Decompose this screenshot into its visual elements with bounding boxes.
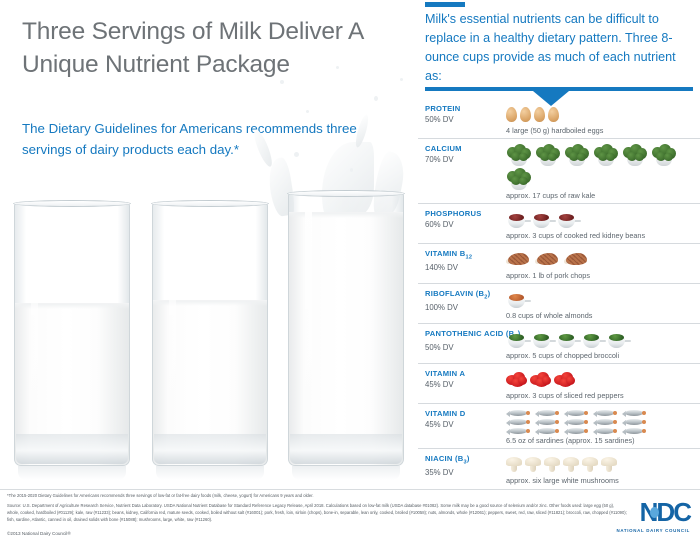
red-pepper-icon	[506, 372, 527, 388]
sardine-icon	[506, 409, 532, 417]
nutrient-icon-group	[506, 408, 700, 435]
kale-cup-icon	[535, 144, 561, 166]
broccoli-cup-icon	[556, 331, 578, 349]
ndc-logo: NDC NATIONAL DAIRY COUNCIL	[604, 497, 690, 537]
nutrient-name: PANTOTHENIC ACID (B5)	[425, 329, 503, 341]
infographic-page: Three Servings of Milk Deliver A Unique …	[0, 0, 700, 544]
nutrient-name: CALCIUM	[425, 144, 503, 153]
nutrient-name: VITAMIN A	[425, 369, 503, 378]
nutrient-name: NIACIN (B3)	[425, 454, 503, 466]
kidney-bean-cup-icon	[531, 211, 553, 229]
sardine-icon	[593, 427, 619, 435]
footnote-source: Source: U.S. Department of Agriculture R…	[7, 502, 627, 524]
egg-icon	[506, 107, 517, 122]
sardine-icon	[535, 427, 561, 435]
nutrient-label-group: VITAMIN A45% DV	[425, 369, 503, 389]
nutrient-list: PROTEIN50% DV4 large (50 g) hardboiled e…	[418, 99, 700, 488]
pork-chop-icon	[535, 251, 561, 268]
nutrient-row: CALCIUM70% DVapprox. 17 cups of raw kale	[418, 138, 700, 203]
nutrient-icon-group	[506, 208, 700, 230]
nutrient-daily-value: 70% DV	[425, 155, 503, 164]
nutrient-row: PANTOTHENIC ACID (B5)50% DVapprox. 5 cup…	[418, 323, 700, 363]
panel-intro-text: Milk's essential nutrients can be diffic…	[425, 10, 693, 87]
panel-top-rule	[425, 2, 465, 7]
nutrient-name: RIBOFLAVIN (B2)	[425, 289, 503, 301]
mushroom-icon	[582, 457, 598, 472]
nutrient-daily-value: 140% DV	[425, 263, 503, 272]
sardine-icon	[593, 409, 619, 417]
sardine-icon	[506, 427, 532, 435]
sardine-icon	[564, 409, 590, 417]
milk-glass-2	[152, 202, 268, 466]
nutrient-label-group: PHOSPHORUS60% DV	[425, 209, 503, 229]
mushroom-icon	[563, 457, 579, 472]
nutrient-daily-value: 60% DV	[425, 220, 503, 229]
nutrient-label-group: VITAMIN B12140% DV	[425, 249, 503, 273]
nutrient-row: NIACIN (B3)35% DVapprox. six large white…	[418, 448, 700, 488]
kale-cup-icon	[593, 144, 619, 166]
almond-cup-icon	[506, 291, 528, 309]
sardine-icon	[506, 418, 532, 426]
copyright-notice: ©2013 National Dairy Council®	[7, 531, 71, 536]
nutrient-caption: 6.5 oz of sardines (approx. 15 sardines)	[506, 435, 700, 445]
mushroom-icon	[506, 457, 522, 472]
nutrient-row: PROTEIN50% DV4 large (50 g) hardboiled e…	[418, 99, 700, 138]
broccoli-cup-icon	[531, 331, 553, 349]
nutrient-daily-value: 50% DV	[425, 343, 503, 352]
ndc-logo-oval-icon	[650, 507, 659, 518]
nutrient-label-group: CALCIUM70% DV	[425, 144, 503, 164]
ndc-logo-mark: NDC	[604, 497, 690, 527]
nutrient-label-group: RIBOFLAVIN (B2)100% DV	[425, 289, 503, 313]
nutrient-name: VITAMIN B12	[425, 249, 503, 261]
nutrient-panel: Milk's essential nutrients can be diffic…	[418, 0, 700, 489]
nutrient-row: VITAMIN D45% DV6.5 oz of sardines (appro…	[418, 403, 700, 448]
sardine-icon	[593, 418, 619, 426]
ndc-logo-name: NATIONAL DAIRY COUNCIL	[604, 528, 690, 533]
nutrient-row: RIBOFLAVIN (B2)100% DV0.8 cups of whole …	[418, 283, 700, 323]
kale-cup-icon	[622, 144, 648, 166]
milk-glass-1	[14, 202, 130, 466]
nutrient-icon-group	[506, 288, 700, 310]
sardine-icon	[622, 427, 648, 435]
nutrient-name: PHOSPHORUS	[425, 209, 503, 218]
broccoli-cup-icon	[506, 331, 528, 349]
sardine-icon	[564, 418, 590, 426]
sardine-icon	[535, 409, 561, 417]
nutrient-row: VITAMIN B12140% DVapprox. 1 lb of pork c…	[418, 243, 700, 283]
sardine-icon	[622, 418, 648, 426]
footer: *The 2015-2020 Dietary Guidelines for Am…	[0, 490, 700, 544]
mushroom-icon	[525, 457, 541, 472]
mushroom-icon	[544, 457, 560, 472]
sardine-icon	[535, 418, 561, 426]
sardine-icon	[564, 427, 590, 435]
nutrient-row: PHOSPHORUS60% DVapprox. 3 cups of cooked…	[418, 203, 700, 243]
nutrient-name-subscript: 12	[466, 255, 473, 261]
milk-glasses-illustration	[0, 188, 418, 480]
kidney-bean-cup-icon	[506, 211, 528, 229]
nutrient-caption: approx. 3 cups of cooked red kidney bean…	[506, 230, 700, 240]
nutrient-icon-group	[506, 368, 700, 390]
nutrient-caption: approx. 1 lb of pork chops	[506, 270, 700, 280]
nutrient-caption: 4 large (50 g) hardboiled eggs	[506, 125, 700, 135]
nutrient-caption: approx. 5 cups of chopped broccoli	[506, 350, 700, 360]
nutrient-name-subscript: 2	[484, 295, 487, 301]
red-pepper-icon	[530, 372, 551, 388]
nutrient-label-group: PANTOTHENIC ACID (B5)50% DV	[425, 329, 503, 353]
nutrient-caption: approx. 17 cups of raw kale	[506, 190, 700, 200]
red-pepper-icon	[554, 372, 575, 388]
nutrient-row: VITAMIN A45% DVapprox. 3 cups of sliced …	[418, 363, 700, 403]
nutrient-icon-group	[506, 143, 700, 190]
nutrient-icon-group	[506, 453, 700, 475]
sardine-icon	[622, 409, 648, 417]
footnote-disclaimer: *The 2015-2020 Dietary Guidelines for Am…	[7, 493, 627, 499]
mushroom-icon	[601, 457, 617, 472]
nutrient-name-subscript: 3	[464, 460, 467, 466]
egg-icon	[534, 107, 545, 122]
nutrient-label-group: VITAMIN D45% DV	[425, 409, 503, 429]
nutrient-label-group: PROTEIN50% DV	[425, 104, 503, 124]
left-panel: Three Servings of Milk Deliver A Unique …	[0, 0, 418, 489]
broccoli-cup-icon	[581, 331, 603, 349]
milk-glass-3	[288, 192, 404, 466]
nutrient-icon-group	[506, 328, 700, 350]
kale-cup-icon	[506, 144, 532, 166]
kale-cup-icon	[651, 144, 677, 166]
nutrient-daily-value: 100% DV	[425, 303, 503, 312]
pork-chop-icon	[564, 251, 590, 268]
nutrient-caption: 0.8 cups of whole almonds	[506, 310, 700, 320]
kale-cup-icon	[506, 168, 532, 190]
nutrient-icon-group	[506, 248, 700, 270]
pork-chop-icon	[506, 251, 532, 268]
nutrient-daily-value: 45% DV	[425, 420, 503, 429]
nutrient-name: VITAMIN D	[425, 409, 503, 418]
kidney-bean-cup-icon	[556, 211, 578, 229]
broccoli-cup-icon	[606, 331, 628, 349]
nutrient-caption: approx. six large white mushrooms	[506, 475, 700, 485]
kale-cup-icon	[564, 144, 590, 166]
nutrient-icon-group	[506, 103, 700, 125]
ndc-logo-letters: NDC	[604, 497, 690, 527]
nutrient-label-group: NIACIN (B3)35% DV	[425, 454, 503, 478]
egg-icon	[520, 107, 531, 122]
nutrient-caption: approx. 3 cups of sliced red peppers	[506, 390, 700, 400]
egg-icon	[548, 107, 559, 122]
nutrient-daily-value: 45% DV	[425, 380, 503, 389]
nutrient-name: PROTEIN	[425, 104, 503, 113]
nutrient-daily-value: 50% DV	[425, 115, 503, 124]
nutrient-daily-value: 35% DV	[425, 468, 503, 477]
